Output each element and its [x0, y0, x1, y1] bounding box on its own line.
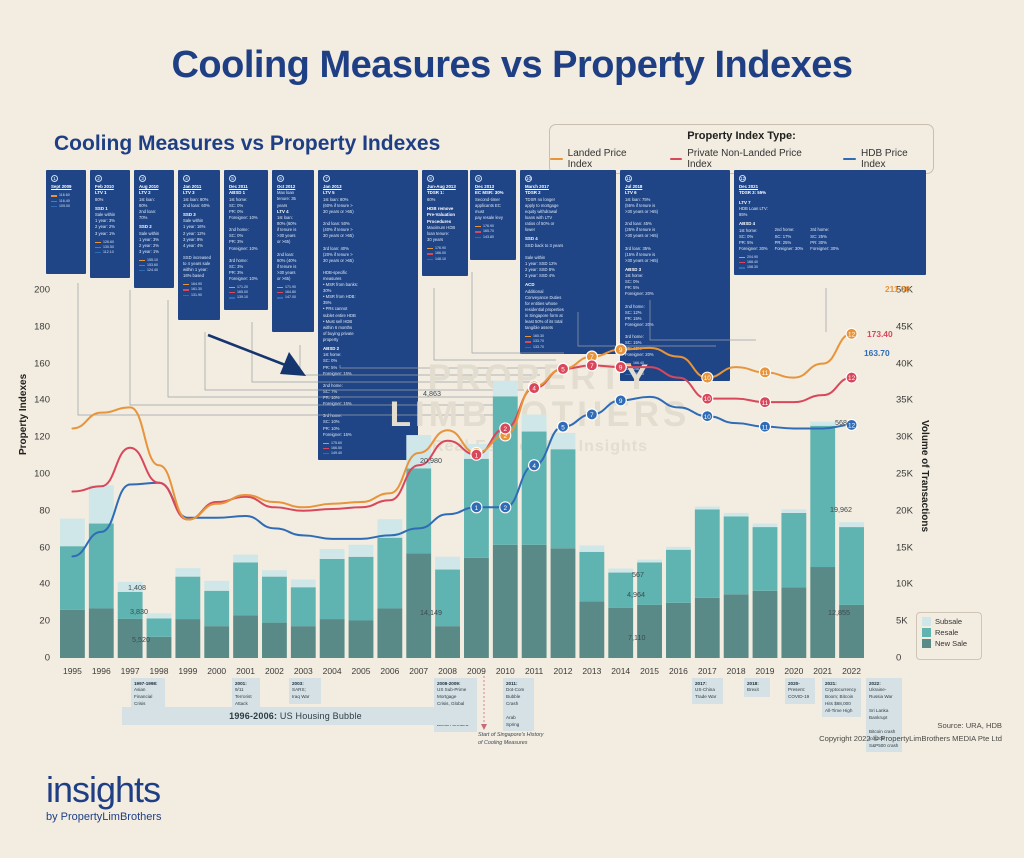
event-line: Brexit — [747, 687, 767, 694]
x-tick: 2019 — [756, 666, 775, 676]
series-marker-label: 5 — [561, 424, 565, 431]
event-line: 9/11 — [235, 687, 257, 694]
y-right-tick: 15K — [896, 542, 913, 553]
card-legend-swatch — [51, 206, 57, 207]
x-tick: 2016 — [669, 666, 688, 676]
y-left-tick: 100 — [16, 469, 50, 480]
event-wide-bold: 1996-2006: — [229, 711, 277, 721]
annotation-arrow-line — [208, 335, 293, 368]
card-legend-swatch — [95, 252, 101, 253]
bar-segment — [349, 620, 374, 658]
card-legend-swatch — [475, 231, 481, 232]
series-marker-label: 1 — [475, 505, 479, 512]
x-tick: 2022 — [842, 666, 861, 676]
volume-legend-label: Subsale — [935, 617, 962, 626]
card-mini-legend: 126.60130.50112.10 — [95, 240, 125, 256]
series-marker-label: 11 — [762, 400, 769, 407]
legend-swatch — [670, 158, 683, 161]
series-marker-label: 11 — [762, 370, 769, 377]
bar-segment — [349, 545, 374, 557]
legend-swatch — [843, 158, 856, 161]
bar-segment — [724, 516, 749, 594]
bar-segment — [291, 579, 316, 587]
y-axis-left-label: Property Indexes — [18, 374, 29, 455]
volume-legend-label: New Sale — [935, 639, 967, 648]
cooling-measure-card-12[interactable]: 12Dec 2021TDSR 3: 55%LTV 7HDB Loan LTV:8… — [734, 170, 926, 275]
x-tick: 2015 — [640, 666, 659, 676]
volume-swatch — [922, 628, 931, 637]
event-title: 2020- — [788, 681, 800, 686]
bar-segment — [435, 626, 460, 658]
card-legend-value: 143.80 — [483, 235, 494, 240]
copyright-line: Copyright 2022 © PropertyLimBrothers MED… — [819, 733, 1002, 746]
legend-label: HDB Price Index — [861, 148, 933, 170]
event-line: Present: — [788, 687, 812, 694]
x-tick: 2004 — [323, 666, 342, 676]
volume-legend-item-2: New Sale — [922, 639, 976, 648]
card-legend-swatch — [739, 262, 745, 263]
series-end-label: 163.70 — [864, 348, 890, 358]
bar-segment — [147, 637, 172, 658]
card-legend-swatch — [51, 195, 57, 196]
card-legend-swatch — [229, 287, 235, 288]
bar-value-label: 14,149 — [420, 608, 442, 617]
x-tick: 2013 — [582, 666, 601, 676]
card-mini-legend: 204.90168.40158.30 — [739, 255, 921, 271]
card-legend-row: 143.80 — [475, 235, 511, 240]
bar-segment — [291, 626, 316, 658]
bar-segment — [839, 522, 864, 527]
x-tick: 2009 — [467, 666, 486, 676]
x-tick: 1996 — [92, 666, 111, 676]
bar-segment — [724, 594, 749, 658]
legend-label: Private Non-Landed Price Index — [687, 148, 825, 170]
bar-segment — [695, 598, 720, 658]
event-line: All-Time High — [825, 708, 858, 715]
card-number: 8 — [427, 175, 434, 182]
x-tick: 2011 — [525, 666, 543, 676]
timeline-event-7: 2018:Brexit — [744, 678, 770, 697]
cooling-measure-cards: 1Sept 2009116.60116.40109.002Feb 2010LTV… — [46, 170, 926, 290]
infographic-page: Cooling Measures vs Property Indexes Coo… — [0, 0, 1024, 858]
bar-segment — [781, 509, 806, 513]
y-left-tick: 0 — [16, 653, 50, 664]
card-legend-row: 148.10 — [427, 257, 463, 262]
y-right-tick: 5K — [896, 616, 908, 627]
card-number: 11 — [625, 175, 632, 182]
bar-segment — [406, 553, 431, 658]
event-title: 2011: — [506, 681, 518, 686]
card-legend-swatch — [95, 247, 101, 248]
card-legend-value: 109.00 — [59, 204, 70, 209]
event-line — [506, 708, 531, 715]
note-line-2: of Cooling Measures — [478, 739, 543, 747]
bar-segment — [233, 562, 258, 615]
bar-segment — [377, 608, 402, 658]
bar-segment — [781, 587, 806, 658]
x-tick: 2018 — [727, 666, 746, 676]
bar-segment — [147, 613, 172, 618]
bar-segment — [233, 555, 258, 563]
card-legend-swatch — [139, 270, 145, 271]
timeline-event-6: 2017:US-ChinaTrade War — [692, 678, 723, 704]
legend-title: Property Index Type: — [550, 130, 933, 142]
bar-segment — [464, 558, 489, 658]
x-tick: 2005 — [352, 666, 371, 676]
card-legend-value: 124.40 — [147, 268, 158, 273]
card-legend-row: 112.10 — [95, 250, 125, 255]
x-tick: 2008 — [438, 666, 457, 676]
event-line: Hits $68,000 — [825, 701, 858, 708]
card-number: 12 — [739, 175, 746, 182]
y-right-tick: 35K — [896, 395, 913, 406]
bar-segment — [60, 519, 85, 547]
y-left-tick: 60 — [16, 542, 50, 553]
y-right-tick: 20K — [896, 505, 913, 516]
bar-segment — [320, 619, 345, 658]
bar-value-label: 1,408 — [128, 583, 146, 592]
event-line — [869, 701, 899, 708]
cooling-measure-card-8[interactable]: 8Jun-Aug 2013TDSR 1:60%HDB remove Pre-Va… — [422, 170, 468, 276]
event-line: Bubble — [506, 694, 531, 701]
series-marker-label: 1 — [475, 452, 479, 459]
card-legend-swatch — [139, 265, 145, 266]
series-end-label: 173.40 — [867, 329, 893, 339]
card-legend-row: 124.40 — [139, 268, 169, 273]
start-of-cooling-measures-note: Start of Singapore's History of Cooling … — [478, 731, 543, 747]
bar-segment — [810, 422, 835, 426]
card-number: 5 — [229, 175, 236, 182]
brand-footer: insights by PropertyLimBrothers — [46, 772, 162, 823]
x-tick: 2021 — [813, 666, 832, 676]
event-title: 2021: — [825, 681, 837, 686]
event-line: Crash — [506, 701, 531, 708]
card-legend-value: 112.10 — [103, 250, 114, 255]
x-tick: 2006 — [380, 666, 399, 676]
card-text: 16% based — [183, 273, 215, 279]
source-credit: Source: URA, HDB Copyright 2022 © Proper… — [819, 720, 1002, 746]
card-legend-swatch — [139, 260, 145, 261]
y-right-tick: 10K — [896, 579, 913, 590]
card-legend-swatch — [427, 259, 433, 260]
bar-value-label: 20,980 — [420, 456, 442, 465]
event-title: 2003: — [292, 681, 304, 686]
bar-segment — [204, 581, 229, 591]
bar-segment — [608, 569, 633, 573]
event-line: Asian — [134, 687, 162, 694]
bar-segment — [579, 552, 604, 602]
event-line: Mortgage — [437, 694, 474, 701]
bar-value-label: 568 — [835, 418, 847, 427]
card-legend-swatch — [51, 201, 57, 202]
series-marker-label: 7 — [590, 412, 594, 419]
event-line: US-China — [695, 687, 720, 694]
y-left-tick: 200 — [16, 285, 50, 296]
event-title: 1997-1998: — [134, 681, 158, 686]
event-line: COVID-19 — [788, 694, 812, 701]
card-legend-value: 158.30 — [747, 265, 758, 270]
timeline-event-9: 2021:CryptocurrencyBoom; BitcoinHits $68… — [822, 678, 861, 717]
series-marker-label: 9 — [619, 347, 623, 354]
volume-legend: SubsaleResaleNew Sale — [916, 612, 982, 660]
bar-segment — [262, 577, 287, 623]
volume-legend-item-1: Resale — [922, 628, 976, 637]
x-tick: 1997 — [121, 666, 140, 676]
brand-name: insights — [46, 772, 162, 808]
timeline-event-2: 2003:SARS;Iraq War — [289, 678, 321, 704]
card-number: 1 — [51, 175, 58, 182]
bar-segment — [89, 608, 114, 658]
chart-subtitle: Cooling Measures vs Property Indexes — [54, 132, 440, 156]
legend-item-1: Private Non-Landed Price Index — [670, 148, 826, 170]
card-mini-legend: 116.60116.40109.00 — [51, 193, 81, 209]
line-series — [72, 334, 851, 520]
x-tick: 2010 — [496, 666, 515, 676]
bar-value-label: 4,964 — [627, 590, 645, 599]
bar-segment — [60, 610, 85, 658]
event-title: 2018: — [747, 681, 759, 686]
bar-segment — [753, 527, 778, 591]
y-left-tick: 140 — [16, 395, 50, 406]
card-number: 7 — [323, 175, 330, 182]
card-legend-swatch — [183, 284, 189, 285]
card-text: Foreigner: 10% — [229, 276, 263, 282]
bar-segment — [233, 616, 258, 658]
bar-segment — [175, 577, 200, 619]
event-line: US Sub-Prime — [437, 687, 474, 694]
bar-value-label: 12,855 — [828, 608, 850, 617]
bar-value-label: 19,962 — [830, 505, 852, 514]
card-legend-row: 109.00 — [51, 204, 81, 209]
series-marker-label: 4 — [532, 463, 536, 470]
legend-item-0: Landed Price Index — [550, 148, 652, 170]
event-title: 2008-2009: — [437, 681, 461, 686]
card-mini-legend: 176.90166.00148.10 — [427, 246, 463, 262]
bar-segment — [637, 560, 662, 563]
bar-segment — [147, 618, 172, 636]
event-line: Arab — [506, 715, 531, 722]
series-marker-label: 4 — [532, 386, 536, 393]
volume-legend-label: Resale — [935, 628, 958, 637]
card-heading: HDB remove Pre-Valuation Procedures — [427, 206, 463, 225]
card-date: Sept 2009 — [51, 184, 81, 190]
x-tick: 2007 — [409, 666, 428, 676]
volume-swatch — [922, 639, 931, 648]
bar-segment — [262, 623, 287, 658]
card-text: Foreigner: 30% — [810, 246, 839, 252]
event-title: 2017: — [695, 681, 707, 686]
bar-segment — [753, 591, 778, 658]
bar-segment — [522, 432, 547, 545]
legend-label: Landed Price Index — [568, 148, 652, 170]
event-line: Dot-Com — [506, 687, 531, 694]
bar-segment — [551, 548, 576, 658]
event-title: 2001: — [235, 681, 247, 686]
y-left-tick: 180 — [16, 321, 50, 332]
bar-segment — [781, 513, 806, 587]
series-marker-label: 7 — [590, 363, 594, 370]
legend-items: Landed Price IndexPrivate Non-Landed Pri… — [550, 148, 933, 170]
x-tick: 2002 — [265, 666, 284, 676]
y-right-tick: 45K — [896, 321, 913, 332]
x-tick: 2012 — [554, 666, 573, 676]
series-marker-label: 10 — [704, 375, 712, 382]
event-line: Russia War — [869, 694, 899, 701]
index-type-legend: Property Index Type: Landed Price IndexP… — [549, 124, 934, 174]
y-left-tick: 80 — [16, 505, 50, 516]
bar-segment — [349, 557, 374, 621]
x-tick: 1999 — [178, 666, 197, 676]
y-right-tick: 25K — [896, 469, 913, 480]
legend-item-2: HDB Price Index — [843, 148, 933, 170]
card-text: Foreigner: 30% — [775, 246, 804, 252]
bar-segment — [551, 433, 576, 449]
series-marker-label: 9 — [619, 398, 623, 405]
cooling-measure-card-2[interactable]: 2Feb 2010LTV 180%SSD 1Sale within1 year:… — [90, 170, 130, 278]
series-marker-label: 12 — [848, 375, 856, 382]
card-number: 10 — [525, 175, 532, 182]
series-marker-label: 5 — [561, 366, 565, 373]
bar-segment — [695, 509, 720, 597]
bar-segment — [493, 545, 518, 658]
page-title: Cooling Measures vs Property Indexes — [0, 44, 1024, 87]
card-mini-legend: 176.90165.70143.80 — [475, 224, 511, 240]
card-text: Foreigner: 10% — [229, 246, 263, 252]
bar-value-label: 567 — [632, 570, 644, 579]
bar-value-label: 3,830 — [130, 607, 148, 616]
note-line-1: Start of Singapore's History — [478, 731, 543, 739]
card-text: 3 year: 1% — [95, 231, 125, 237]
y-left-tick: 120 — [16, 432, 50, 443]
bar-segment — [522, 545, 547, 658]
card-legend-value: 148.10 — [435, 257, 446, 262]
bar-segment — [810, 426, 835, 567]
card-text: 3 year: 1% — [139, 249, 169, 255]
x-tick: 2000 — [207, 666, 226, 676]
event-line: Terrorist — [235, 694, 257, 701]
series-marker-label: 10 — [704, 396, 712, 403]
bar-segment — [666, 550, 691, 603]
event-wide-rest: US Housing Bubble — [277, 711, 362, 721]
event-title: 2022: — [869, 681, 881, 686]
event-line: SARS; — [292, 687, 318, 694]
bar-segment — [291, 587, 316, 626]
volume-legend-item-0: Subsale — [922, 617, 976, 626]
legend-swatch — [550, 158, 563, 161]
bar-segment — [377, 538, 402, 609]
card-legend-swatch — [739, 257, 745, 258]
card-mini-legend: 155.10153.60124.40 — [139, 258, 169, 274]
cooling-measure-card-3[interactable]: 3Aug 2010LTV 21st loan:80%2nd loan:70%SS… — [134, 170, 174, 288]
brand-byline: by PropertyLimBrothers — [46, 811, 162, 823]
y-left-tick: 160 — [16, 358, 50, 369]
cooling-measure-card-5[interactable]: 5Dec 2011ABSD 11st home:SC: 0%PR: 0%Fore… — [224, 170, 268, 310]
event-line: Ukraine- — [869, 687, 899, 694]
series-marker-label: 9 — [619, 365, 623, 372]
bar-segment — [666, 603, 691, 658]
bar-value-label: 7,110 — [628, 633, 645, 642]
bar-segment — [551, 449, 576, 548]
event-line: Cryptocurrency — [825, 687, 858, 694]
card-legend-swatch — [427, 248, 433, 249]
cooling-measure-card-1[interactable]: 1Sept 2009116.60116.40109.00 — [46, 170, 86, 274]
event-us-housing-bubble: 1996-2006: US Housing Bubble — [122, 707, 469, 725]
x-tick: 2017 — [698, 666, 717, 676]
y-axis-right-label: Volume of Transactions — [919, 420, 930, 532]
series-marker-label: 2 — [504, 426, 508, 433]
bar-segment — [695, 507, 720, 510]
series-marker-label: 12 — [848, 423, 856, 430]
x-tick: 1995 — [63, 666, 82, 676]
bar-segment — [753, 524, 778, 528]
bar-segment — [579, 601, 604, 658]
card-legend-swatch — [95, 242, 101, 243]
card-text: or >65) — [277, 276, 309, 282]
chart-svg: 1112223334445556667778889991010101111111… — [58, 290, 866, 658]
bar-segment — [204, 591, 229, 626]
bar-segment — [262, 570, 287, 576]
bar-segment — [724, 513, 749, 517]
bar-segment — [89, 485, 114, 523]
series-marker-label: 10 — [704, 414, 712, 421]
bar-value-label: 4,863 — [423, 389, 441, 398]
cooling-measure-card-9[interactable]: 9Dec 2013EC MSR: 30%Second-timerapplican… — [470, 170, 516, 260]
series-end-label: 211.30 — [885, 284, 910, 294]
card-text: pay resale levy — [475, 215, 511, 221]
volume-swatch — [922, 617, 931, 626]
y-right-tick: 30K — [896, 432, 913, 443]
y-right-tick: 40K — [896, 358, 913, 369]
bar-value-label: 5,520 — [132, 635, 150, 644]
bar-segment — [435, 557, 460, 570]
event-line: Boom; Bitcoin — [825, 694, 858, 701]
card-legend-row: 158.30 — [739, 265, 921, 270]
x-tick: 2020 — [784, 666, 803, 676]
card-legend-swatch — [475, 226, 481, 227]
card-legend-swatch — [427, 253, 433, 254]
bar-segment — [637, 605, 662, 658]
card-number: 2 — [95, 175, 102, 182]
card-text: Foreigner: 30% — [739, 246, 768, 252]
y-left-tick: 20 — [16, 616, 50, 627]
timeline-event-1: 2001:9/11TerroristAttack — [232, 678, 260, 711]
series-marker-label: 12 — [848, 331, 856, 338]
card-legend-swatch — [475, 237, 481, 238]
bar-segment — [175, 568, 200, 576]
x-tick: 2014 — [611, 666, 630, 676]
event-line: Iraq War — [292, 694, 318, 701]
x-tick: 2003 — [294, 666, 313, 676]
event-line: Trade War — [695, 694, 720, 701]
chart-plot-area: 1112223334445556667778889991010101111111… — [58, 290, 866, 658]
bar-segment — [522, 415, 547, 432]
card-number: 9 — [475, 175, 482, 182]
timeline-event-5: 2011:Dot-ComBubbleCrash ArabSpring — [503, 678, 534, 731]
card-number: 3 — [139, 175, 146, 182]
card-text: 30 years — [427, 237, 463, 243]
bar-segment — [839, 527, 864, 605]
series-marker-label: 11 — [762, 424, 769, 431]
card-number: 4 — [183, 175, 190, 182]
card-legend-swatch — [277, 287, 283, 288]
x-tick: 1998 — [150, 666, 169, 676]
y-left-tick: 40 — [16, 579, 50, 590]
x-tick: 2001 — [236, 666, 255, 676]
card-text: applicants EC must — [475, 203, 511, 215]
bar-segment — [579, 545, 604, 551]
bar-segment — [320, 559, 345, 619]
bar-segment — [493, 381, 518, 397]
